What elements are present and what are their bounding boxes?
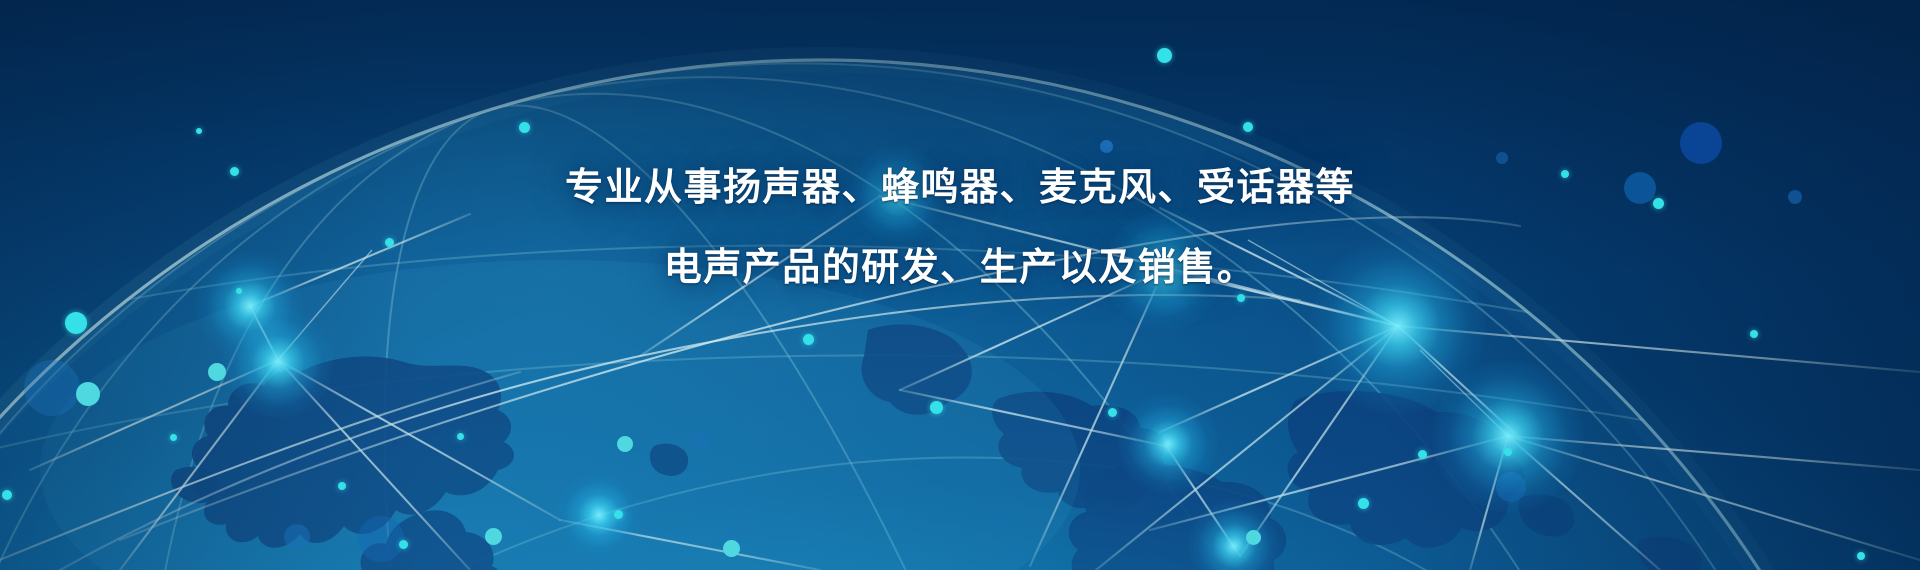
- particle-layer: [0, 0, 1920, 570]
- particle-dot: [1237, 294, 1245, 302]
- particle-dot: [338, 482, 346, 490]
- particle-dot: [385, 238, 394, 247]
- particle-dot: [1157, 48, 1172, 63]
- particle-dot: [1653, 198, 1664, 209]
- particle-dot: [457, 433, 464, 440]
- particle-dot: [1246, 530, 1261, 545]
- particle-dot: [485, 528, 502, 545]
- particle-dot: [1358, 498, 1369, 509]
- particle-dot: [76, 382, 100, 406]
- particle-dot: [196, 128, 202, 134]
- particle-dot: [170, 434, 177, 441]
- particle-dot: [1418, 450, 1427, 459]
- particle-dot: [236, 288, 242, 294]
- particle-dot: [617, 436, 633, 452]
- particle-dot: [803, 334, 814, 345]
- particle-dot: [2, 490, 12, 500]
- particle-dot: [1108, 408, 1117, 417]
- particle-dot: [230, 167, 239, 176]
- particle-dot: [519, 122, 530, 133]
- particle-dot: [930, 401, 943, 414]
- particle-dot: [1561, 170, 1569, 178]
- particle-dot: [614, 510, 623, 519]
- particle-dot: [1504, 448, 1512, 456]
- particle-dot: [1857, 552, 1865, 560]
- particle-dot: [1750, 330, 1758, 338]
- particle-dot: [65, 312, 87, 334]
- hero-banner: 专业从事扬声器、蜂鸣器、麦克风、受话器等 电声产品的研发、生产以及销售。: [0, 0, 1920, 570]
- particle-dot: [723, 540, 740, 557]
- particle-dot: [399, 540, 408, 549]
- particle-dot: [1100, 140, 1113, 153]
- particle-dot: [208, 363, 226, 381]
- particle-dot: [1243, 122, 1253, 132]
